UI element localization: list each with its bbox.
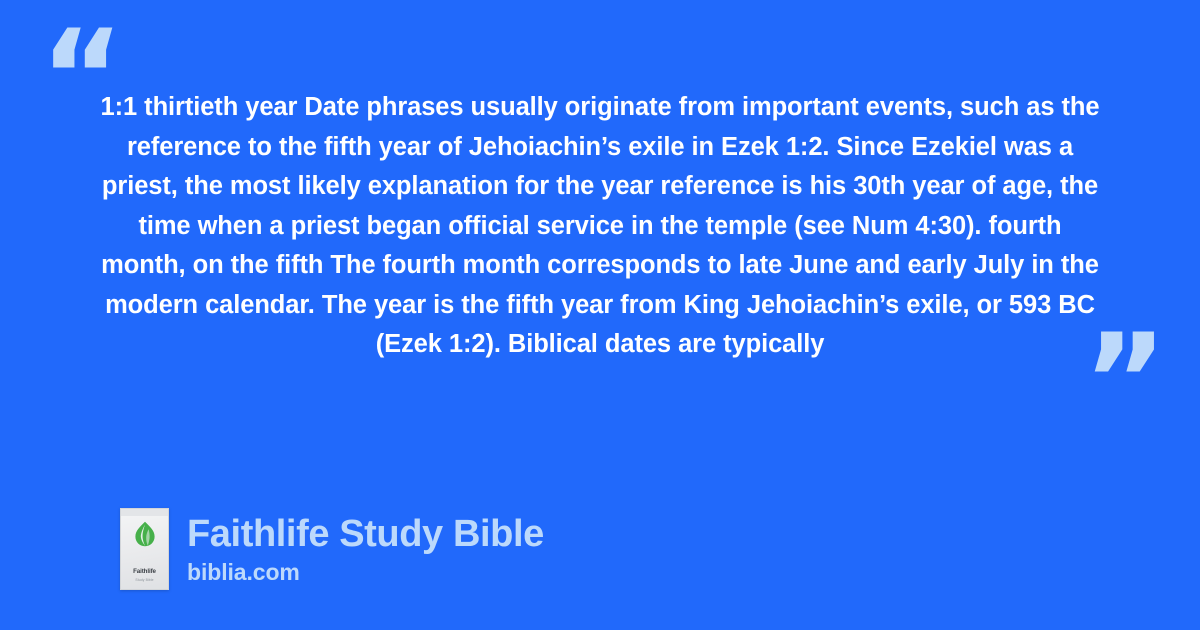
brand-title: Faithlife Study Bible — [187, 512, 544, 556]
cover-title: Faithlife — [121, 568, 168, 575]
cover-subtitle: Study Bible — [121, 578, 168, 582]
quote-card: “ 1:1 thirtieth year Date phrases usuall… — [0, 0, 1200, 630]
quote-text: 1:1 thirtieth year Date phrases usually … — [100, 88, 1100, 365]
cover-top-band — [121, 509, 168, 516]
brand-url[interactable]: biblia.com — [187, 557, 544, 587]
closing-quote-icon: ” — [1083, 318, 1167, 446]
green-leaf-icon — [134, 521, 156, 553]
book-cover-thumbnail: Faithlife Study Bible — [120, 508, 169, 590]
footer-branding: Faithlife Study Bible Faithlife Study Bi… — [120, 508, 544, 590]
footer-text-group: Faithlife Study Bible biblia.com — [187, 512, 544, 587]
